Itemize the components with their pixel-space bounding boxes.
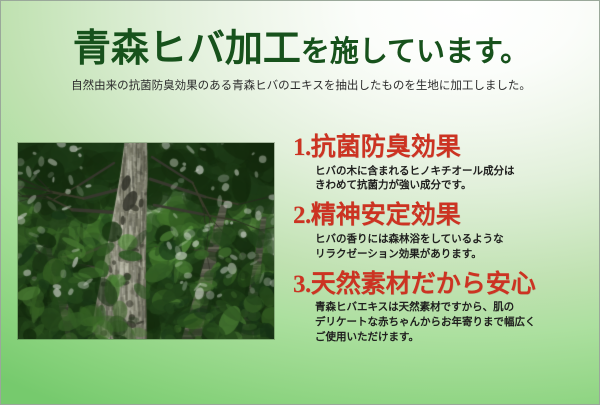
- benefit-body-2: ヒバの香りには森林浴をしているような リラクゼーション効果があります。: [315, 232, 593, 262]
- benefit-number-1: 1.: [293, 134, 311, 161]
- benefit-body-2-line-1: ヒバの香りには森林浴をしているような: [315, 232, 593, 247]
- benefit-body-3: 青森ヒバエキスは天然素材ですから、肌の デリケートな赤ちゃんからお年寄りまで幅広…: [315, 300, 593, 345]
- benefit-number-3: 3.: [293, 271, 311, 298]
- benefit-body-3-line-1: 青森ヒバエキスは天然素材ですから、肌の: [315, 300, 593, 315]
- page-title-tail: を施しています。: [301, 36, 529, 68]
- hiba-tree-photo-image: [18, 143, 274, 339]
- list-item: 3.天然素材だから安心 青森ヒバエキスは天然素材ですから、肌の デリケートな赤ち…: [293, 272, 593, 345]
- benefit-number-2: 2.: [293, 202, 311, 229]
- benefit-title-3: 天然素材だから安心: [311, 270, 536, 298]
- benefit-body-1-line-1: ヒバの木に含まれるヒノキチオール成分は: [315, 164, 593, 179]
- banner-subtitle: 自然由来の抗菌防臭効果のある青森ヒバのエキスを抽出したものを生地に加工しました。: [1, 70, 600, 94]
- benefit-body-3-line-3: ご使用いただけます。: [315, 330, 593, 345]
- benefit-body-2-line-2: リラクゼーション効果があります。: [315, 247, 593, 262]
- banner-header: 青森ヒバ加工を施しています。 自然由来の抗菌防臭効果のある青森ヒバのエキスを抽出…: [1, 1, 600, 94]
- benefit-body-1: ヒバの木に含まれるヒノキチオール成分は きわめて抗菌力が強い成分です。: [315, 164, 593, 194]
- benefit-heading-3: 3.天然素材だから安心: [293, 272, 593, 298]
- page-title-main: 青森ヒバ加工: [73, 28, 301, 70]
- benefit-body-3-line-2: デリケートな赤ちゃんからお年寄りまで幅広く: [315, 315, 593, 330]
- benefit-title-2: 精神安定効果: [311, 201, 461, 229]
- hiba-promotional-banner: 青森ヒバ加工を施しています。 自然由来の抗菌防臭効果のある青森ヒバのエキスを抽出…: [0, 0, 600, 405]
- benefit-heading-1: 1.抗菌防臭効果: [293, 135, 593, 161]
- list-item: 1.抗菌防臭効果 ヒバの木に含まれるヒノキチオール成分は きわめて抗菌力が強い成…: [293, 135, 593, 193]
- benefit-title-1: 抗菌防臭効果: [311, 133, 461, 161]
- list-item: 2.精神安定効果 ヒバの香りには森林浴をしているような リラクゼーション効果があ…: [293, 203, 593, 261]
- hiba-tree-photo: [18, 143, 274, 339]
- benefit-body-1-line-2: きわめて抗菌力が強い成分です。: [315, 178, 593, 193]
- benefits-list: 1.抗菌防臭効果 ヒバの木に含まれるヒノキチオール成分は きわめて抗菌力が強い成…: [293, 135, 593, 345]
- benefit-heading-2: 2.精神安定効果: [293, 203, 593, 229]
- page-title: 青森ヒバ加工を施しています。: [1, 29, 600, 70]
